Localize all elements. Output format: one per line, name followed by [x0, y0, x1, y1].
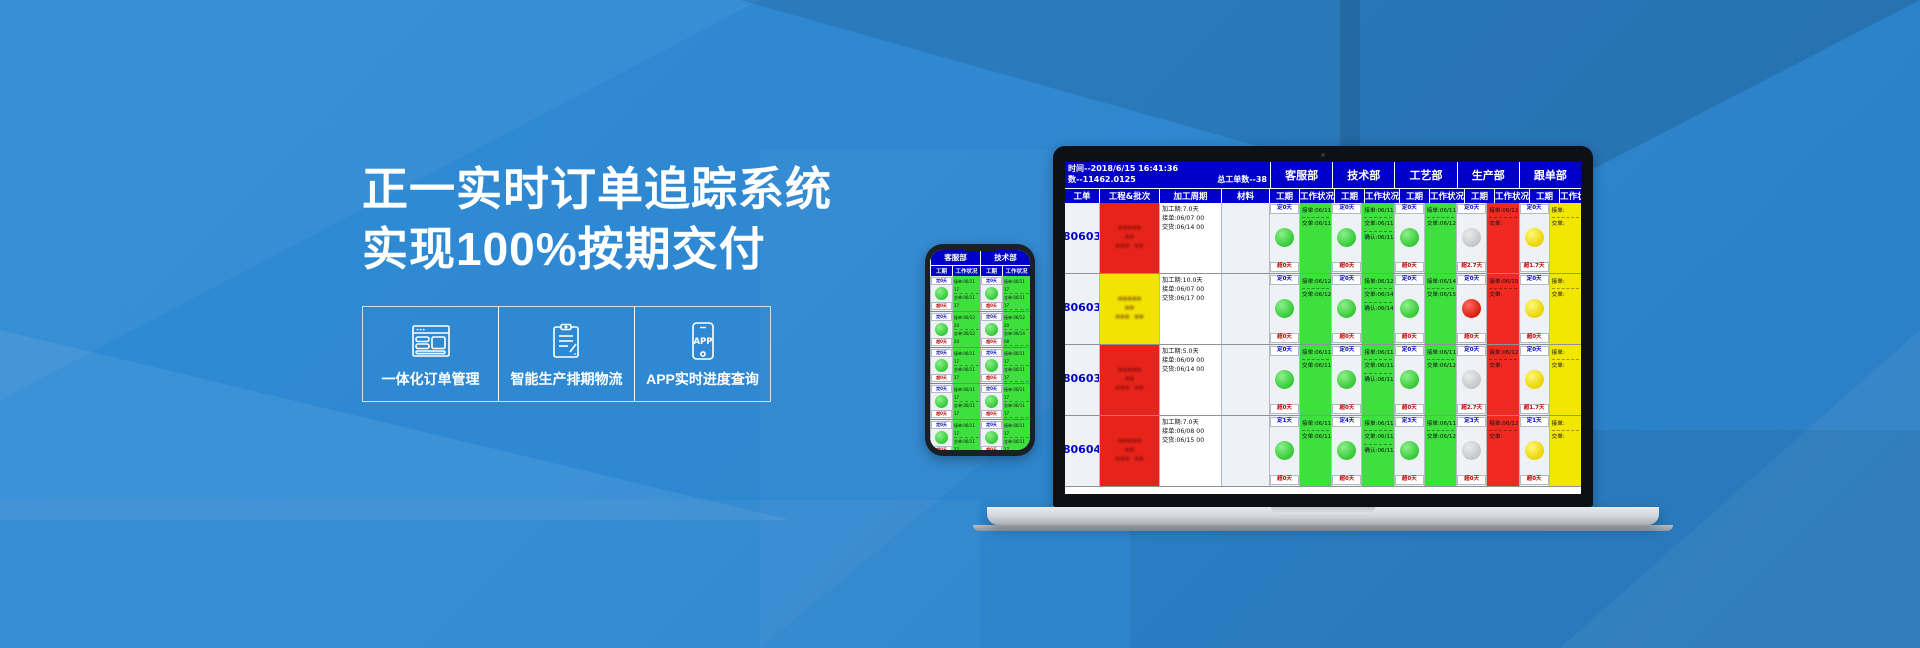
over-days-tag: 超0天 [1270, 333, 1299, 343]
status-indicator-green-icon [1337, 228, 1356, 247]
over-days-tag: 超0天 [931, 374, 952, 382]
over-days-tag: 超0天 [981, 446, 1002, 450]
erp-duration-cell-2[interactable]: 定0天超0天 [1394, 345, 1424, 415]
project-text-redacted: ■■■■■■■■■■ · ■■ [1106, 366, 1153, 393]
phone-work-status-cell[interactable]: 接单:06/11 17交单:06/11 17 [952, 348, 980, 383]
status-indicator-green-icon [1275, 299, 1294, 318]
set-days-tag: 定0天 [1520, 275, 1549, 285]
status-indicator-green-icon [985, 431, 998, 444]
erp-department-4: 跟单部 [1519, 162, 1581, 188]
status-indicator-gray-icon [1462, 370, 1481, 389]
phone-work-status-cell[interactable]: 接单:06/11 17交单:06/11 17确认:06/11 17 [1002, 276, 1030, 311]
over-days-tag: 超0天 [1395, 404, 1424, 414]
phone-work-status-cell[interactable]: 接单:06/11 17交单:06/11 17 [952, 276, 980, 311]
phone-work-status-cell[interactable]: 接单:06/11 17交单:06/11 17确认:06/11 17 [1002, 384, 1030, 419]
feature-card-production-schedule[interactable]: 智能生产排期物流 [498, 306, 635, 402]
erp-duration-cell-2[interactable]: 定0天超0天 [1394, 203, 1424, 273]
erp-duration-cell-4[interactable]: 定0天超1.7天 [1519, 345, 1549, 415]
status-indicator-green-icon [935, 395, 948, 408]
phone-duration-cell[interactable]: 定0天超0天 [930, 276, 952, 311]
erp-cycle-cell[interactable]: 加工期:7.0天接单:06/08 00交货:06/15 00 [1159, 416, 1221, 486]
erp-work-status-cell-3[interactable]: 接单:06/12 09交单: [1486, 416, 1518, 486]
erp-work-status-cell-2[interactable]: 接单:06/11 17交单:06/12 09 [1424, 203, 1456, 273]
laptop-device: 时间--2018/6/15 16:41:36 数--11462.0125 总工单… [1053, 146, 1593, 531]
erp-work-status-cell-3[interactable]: 接单:06/12 09交单: [1486, 203, 1518, 273]
over-days-tag: 超2.7天 [1457, 404, 1486, 414]
erp-col-0-1: 工作状况 [1299, 189, 1334, 203]
phone-duration-cell[interactable]: 定0天超0天 [980, 276, 1002, 311]
set-days-tag: 定0天 [1395, 275, 1424, 285]
erp-work-order-cell[interactable]: 1806036 [1065, 203, 1099, 273]
erp-col-fixed-1: 工程&批次 [1099, 189, 1159, 203]
erp-duration-cell-1[interactable]: 定4天超0天 [1331, 416, 1361, 486]
phone-duration-cell[interactable]: 定0天超0天 [930, 420, 952, 450]
set-days-tag: 定0天 [1270, 346, 1299, 356]
erp-work-status-cell-0[interactable]: 接单:06/11 17交单:06/11 17 [1299, 416, 1331, 486]
erp-project-batch-cell[interactable]: ■■■■■■■■■■ · ■■ [1099, 274, 1159, 344]
erp-department-3: 生产部 [1457, 162, 1519, 188]
status-indicator-green-icon [935, 323, 948, 336]
smartphone-app-icon: APP [689, 319, 717, 363]
svg-text:APP: APP [693, 337, 712, 347]
erp-work-status-cell-4[interactable]: 接单:交单: [1549, 345, 1581, 415]
set-days-tag: 定0天 [1520, 204, 1549, 214]
phone-work-status-cell[interactable]: 接单:06/11 17交单:06/11 17确认:06/11 17 [1002, 348, 1030, 383]
phone-duration-cell[interactable]: 定0天超0天 [930, 384, 952, 419]
erp-count-label: 数--11462.0125 [1068, 175, 1136, 186]
over-days-tag: 超0天 [1395, 262, 1424, 272]
smartphone-device: 客服部技术部 工期工作状况工期工作状况 定0天超0天接单:06/11 17交单:… [925, 244, 1035, 456]
set-days-tag: 定0天 [1395, 346, 1424, 356]
erp-col-2-1: 工作状况 [1429, 189, 1464, 203]
phone-table-row[interactable]: 定0天超0天接单:06/11 17交单:06/11 17定0天超0天接单:06/… [930, 276, 1030, 312]
erp-col-2-0: 工期 [1399, 189, 1429, 203]
status-indicator-green-icon [1400, 441, 1419, 460]
status-indicator-red-icon [1462, 299, 1481, 318]
laptop-screen[interactable]: 时间--2018/6/15 16:41:36 数--11462.0125 总工单… [1065, 162, 1581, 494]
over-days-tag: 超0天 [1332, 475, 1361, 485]
over-days-tag: 超0天 [1457, 333, 1486, 343]
erp-project-batch-cell[interactable]: ■■■■■■■■■■ · ■■ [1099, 345, 1159, 415]
set-days-tag: 定0天 [981, 385, 1002, 393]
erp-column-header: 工单工程&批次加工周期材料工期工作状况工期工作状况工期工作状况工期工作状况工期工… [1065, 188, 1581, 203]
erp-table-row[interactable]: 1806040■■■■■■■■■■ · ■■加工期:7.0天接单:06/08 0… [1065, 416, 1581, 487]
erp-duration-cell-4[interactable]: 定0天超1.7天 [1519, 203, 1549, 273]
status-indicator-green-icon [1337, 299, 1356, 318]
over-days-tag: 超0天 [1270, 404, 1299, 414]
erp-duration-cell-1[interactable]: 定0天超0天 [1331, 345, 1361, 415]
over-days-tag: 超0天 [981, 302, 1002, 310]
erp-top-bar: 时间--2018/6/15 16:41:36 数--11462.0125 总工单… [1065, 162, 1581, 188]
status-indicator-gray-icon [1462, 441, 1481, 460]
erp-duration-cell-4[interactable]: 定1天超0天 [1519, 416, 1549, 486]
phone-work-status-cell[interactable]: 接单:06/12 20交单:06/14 08确认:06/14 08 [1002, 312, 1030, 347]
set-days-tag: 定0天 [981, 313, 1002, 321]
status-indicator-green-icon [1275, 441, 1294, 460]
erp-col-4-0: 工期 [1529, 189, 1559, 203]
over-days-tag: 超0天 [931, 410, 952, 418]
set-days-tag: 定0天 [931, 277, 952, 285]
erp-work-status-cell-2[interactable]: 接单:06/11 17交单:06/12 09 [1424, 416, 1456, 486]
erp-duration-cell-1[interactable]: 定0天超0天 [1331, 274, 1361, 344]
erp-department-0: 客服部 [1270, 162, 1332, 188]
erp-work-status-cell-2[interactable]: 接单:06/11 17交单:06/12 09 [1424, 345, 1456, 415]
erp-table-body[interactable]: 1806036■■■■■■■■■■ · ■■加工期:7.0天接单:06/07 0… [1065, 203, 1581, 487]
erp-work-order-cell[interactable]: 1806038 [1065, 274, 1099, 344]
over-days-tag: 超0天 [931, 338, 952, 346]
erp-meta-info: 时间--2018/6/15 16:41:36 数--11462.0125 总工单… [1065, 162, 1270, 188]
phone-work-status-cell[interactable]: 接单:06/11 17交单:06/11 17 [952, 420, 980, 450]
status-indicator-green-icon [1275, 228, 1294, 247]
headline-line-1: 正一实时订单追踪系统 [362, 160, 922, 220]
erp-work-order-cell[interactable]: 1806039 [1065, 345, 1099, 415]
erp-duration-cell-3[interactable]: 定0天超2.7天 [1456, 345, 1486, 415]
window-layout-icon [411, 319, 451, 363]
set-days-tag: 定4天 [1332, 417, 1361, 427]
erp-work-status-cell-4[interactable]: 接单:交单: [1549, 416, 1581, 486]
laptop-base [987, 507, 1659, 525]
set-days-tag: 定0天 [1332, 204, 1361, 214]
erp-duration-cell-3[interactable]: 定0天超0天 [1456, 274, 1486, 344]
over-days-tag: 超0天 [1395, 475, 1424, 485]
set-days-tag: 定0天 [1270, 204, 1299, 214]
phone-work-status-cell[interactable]: 接单:06/11 17交单:06/11 17 [952, 384, 980, 419]
erp-duration-cell-4[interactable]: 定0天超0天 [1519, 274, 1549, 344]
status-indicator-yellow-icon [1525, 441, 1544, 460]
phone-col-0-1: 工作状况 [952, 266, 980, 276]
phone-table-row[interactable]: 定0天超0天接单:06/11 17交单:06/11 17定0天超0天接单:06/… [930, 348, 1030, 384]
phone-table-body[interactable]: 定0天超0天接单:06/11 17交单:06/11 17定0天超0天接单:06/… [930, 276, 1030, 450]
status-indicator-green-icon [1337, 441, 1356, 460]
erp-duration-cell-2[interactable]: 定0天超0天 [1394, 274, 1424, 344]
headline-line-2: 实现100%按期交付 [362, 220, 922, 280]
set-days-tag: 定0天 [1332, 346, 1361, 356]
erp-work-status-cell-2[interactable]: 接单:06/14 08交单:06/15 16 [1424, 274, 1456, 344]
set-days-tag: 定0天 [1332, 275, 1361, 285]
over-days-tag: 超0天 [1395, 333, 1424, 343]
phone-column-header: 工期工作状况工期工作状况 [930, 265, 1030, 276]
over-days-tag: 超0天 [931, 446, 952, 450]
over-days-tag: 超0天 [1270, 262, 1299, 272]
erp-project-batch-cell[interactable]: ■■■■■■■■■■ · ■■ [1099, 416, 1159, 486]
set-days-tag: 定0天 [931, 385, 952, 393]
project-text-redacted: ■■■■■■■■■■ · ■■ [1106, 437, 1153, 464]
erp-col-fixed-2: 加工周期 [1159, 189, 1221, 203]
status-indicator-green-icon [935, 287, 948, 300]
feature-card-app-progress[interactable]: APP APP实时进度查询 [634, 306, 771, 402]
phone-table-row[interactable]: 定0天超0天接单:06/12 20交单:06/12 20定0天超0天接单:06/… [930, 312, 1030, 348]
erp-duration-cell-0[interactable]: 定1天超0天 [1269, 416, 1299, 486]
over-days-tag: 超1.7天 [1520, 262, 1549, 272]
erp-material-cell[interactable] [1221, 274, 1269, 344]
erp-col-fixed-0: 工单 [1065, 189, 1099, 203]
project-text-redacted: ■■■■■■■■■■ · ■■ [1106, 224, 1153, 251]
erp-department-1: 技术部 [1332, 162, 1394, 188]
status-indicator-green-icon [1400, 299, 1419, 318]
erp-time-label: 时间--2018/6/15 16:41:36 [1068, 164, 1267, 175]
phone-table-row[interactable]: 定0天超0天接单:06/11 17交单:06/11 17定0天超0天接单:06/… [930, 384, 1030, 420]
feature-label: 智能生产排期物流 [511, 369, 623, 389]
erp-duration-cell-0[interactable]: 定0天超0天 [1269, 345, 1299, 415]
erp-project-batch-cell[interactable]: ■■■■■■■■■■ · ■■ [1099, 203, 1159, 273]
erp-col-1-1: 工作状况 [1364, 189, 1399, 203]
over-days-tag: 超0天 [1270, 475, 1299, 485]
phone-col-1-0: 工期 [980, 266, 1002, 276]
erp-duration-cell-3[interactable]: 定0天超2.7天 [1456, 203, 1486, 273]
erp-work-status-cell-0[interactable]: 接单:06/11 17交单:06/11 17 [1299, 345, 1331, 415]
phone-screen[interactable]: 客服部技术部 工期工作状况工期工作状况 定0天超0天接单:06/11 17交单:… [930, 250, 1030, 450]
status-indicator-gray-icon [1462, 228, 1481, 247]
over-days-tag: 超1.7天 [1520, 404, 1549, 414]
erp-total-label: 总工单数--38 [1217, 175, 1267, 186]
phone-department-0: 客服部 [930, 250, 980, 265]
clipboard-edit-icon [550, 319, 584, 363]
status-indicator-green-icon [985, 287, 998, 300]
erp-duration-cell-2[interactable]: 定3天超0天 [1394, 416, 1424, 486]
set-days-tag: 定0天 [981, 349, 1002, 357]
erp-duration-cell-3[interactable]: 定3天超0天 [1456, 416, 1486, 486]
phone-duration-cell[interactable]: 定0天超0天 [980, 384, 1002, 419]
erp-cycle-cell[interactable]: 加工期:5.0天接单:06/09 00交货:06/14 00 [1159, 345, 1221, 415]
phone-notch [960, 244, 1000, 251]
set-days-tag: 定0天 [1457, 204, 1486, 214]
status-indicator-yellow-icon [1525, 370, 1544, 389]
phone-col-0-0: 工期 [930, 266, 952, 276]
erp-work-status-cell-3[interactable]: 接单:06/15 16交单: [1486, 274, 1518, 344]
feature-label: 一体化订单管理 [382, 369, 480, 389]
erp-duration-cell-1[interactable]: 定0天超0天 [1331, 203, 1361, 273]
status-indicator-green-icon [935, 431, 948, 444]
set-days-tag: 定0天 [981, 277, 1002, 285]
laptop-base-notch [1271, 507, 1375, 514]
set-days-tag: 定0天 [931, 421, 952, 429]
phone-table-row[interactable]: 定0天超0天接单:06/11 17交单:06/11 17定0天超0天接单:06/… [930, 420, 1030, 450]
set-days-tag: 定1天 [1520, 417, 1549, 427]
laptop-base-foot [973, 525, 1673, 531]
set-days-tag: 定3天 [1457, 417, 1486, 427]
set-days-tag: 定0天 [931, 349, 952, 357]
status-indicator-green-icon [985, 395, 998, 408]
phone-work-status-cell[interactable]: 接单:06/12 20交单:06/12 20 [952, 312, 980, 347]
erp-material-cell[interactable] [1221, 416, 1269, 486]
over-days-tag: 超0天 [1457, 475, 1486, 485]
status-indicator-yellow-icon [1525, 228, 1544, 247]
over-days-tag: 超0天 [981, 338, 1002, 346]
over-days-tag: 超0天 [1332, 262, 1361, 272]
erp-department-2: 工艺部 [1394, 162, 1456, 188]
set-days-tag: 定0天 [1270, 275, 1299, 285]
status-indicator-green-icon [935, 359, 948, 372]
set-days-tag: 定0天 [1395, 204, 1424, 214]
erp-col-0-0: 工期 [1269, 189, 1299, 203]
erp-cycle-cell[interactable]: 加工期:7.0天接单:06/07 00交货:06/14 00 [1159, 203, 1221, 273]
status-indicator-green-icon [1275, 370, 1294, 389]
phone-duration-cell[interactable]: 定0天超0天 [980, 312, 1002, 347]
status-indicator-green-icon [985, 359, 998, 372]
over-days-tag: 超2.7天 [1457, 262, 1486, 272]
set-days-tag: 定0天 [981, 421, 1002, 429]
erp-material-cell[interactable] [1221, 345, 1269, 415]
webcam-icon [1321, 153, 1325, 157]
erp-work-status-cell-0[interactable]: 接单:06/11 17交单:06/11 17 [1299, 203, 1331, 273]
erp-col-3-1: 工作状况 [1494, 189, 1529, 203]
erp-work-status-cell-1[interactable]: 接单:06/11 17交单:06/11 17确认:06/11 17 [1361, 416, 1393, 486]
feature-list: 一体化订单管理 智能生产排期物流 [362, 306, 922, 402]
set-days-tag: 定1天 [1270, 417, 1299, 427]
erp-table-row[interactable]: 1806038■■■■■■■■■■ · ■■加工期:10.0天接单:06/07 … [1065, 274, 1581, 345]
erp-col-3-0: 工期 [1464, 189, 1494, 203]
erp-work-status-cell-3[interactable]: 接单:06/12 09交单: [1486, 345, 1518, 415]
status-indicator-green-icon [1400, 370, 1419, 389]
set-days-tag: 定0天 [1457, 346, 1486, 356]
status-indicator-green-icon [985, 323, 998, 336]
erp-work-status-cell-1[interactable]: 接单:06/11 17交单:06/11 17确认:06/11 17 [1361, 345, 1393, 415]
erp-work-status-cell-4[interactable]: 接单:交单: [1549, 274, 1581, 344]
erp-work-status-cell-0[interactable]: 接单:06/12 20交单:06/12 20 [1299, 274, 1331, 344]
set-days-tag: 定0天 [1457, 275, 1486, 285]
erp-col-1-0: 工期 [1334, 189, 1364, 203]
over-days-tag: 超0天 [981, 410, 1002, 418]
erp-department-header: 客服部技术部工艺部生产部跟单部 [1270, 162, 1581, 188]
erp-duration-cell-0[interactable]: 定0天超0天 [1269, 203, 1299, 273]
erp-cycle-cell[interactable]: 加工期:10.0天接单:06/07 00交货:06/17 00 [1159, 274, 1221, 344]
erp-work-order-cell[interactable]: 1806040 [1065, 416, 1099, 486]
over-days-tag: 超0天 [931, 302, 952, 310]
erp-work-status-cell-1[interactable]: 接单:06/12 20交单:06/14 08确认:06/14 08 [1361, 274, 1393, 344]
over-days-tag: 超0天 [1520, 333, 1549, 343]
status-indicator-yellow-icon [1525, 299, 1544, 318]
laptop-lid: 时间--2018/6/15 16:41:36 数--11462.0125 总工单… [1053, 146, 1593, 507]
phone-duration-cell[interactable]: 定0天超0天 [980, 348, 1002, 383]
set-days-tag: 定0天 [931, 313, 952, 321]
erp-col-fixed-3: 材料 [1221, 189, 1269, 203]
set-days-tag: 定0天 [1520, 346, 1549, 356]
phone-duration-cell[interactable]: 定0天超0天 [930, 312, 952, 347]
phone-department-1: 技术部 [980, 250, 1030, 265]
phone-work-status-cell[interactable]: 接单:06/11 17交单:06/11 17确认:06/11 17 [1002, 420, 1030, 450]
over-days-tag: 超0天 [1332, 333, 1361, 343]
erp-material-cell[interactable] [1221, 203, 1269, 273]
feature-label: APP实时进度查询 [646, 369, 759, 389]
erp-work-status-cell-4[interactable]: 接单:交单: [1549, 203, 1581, 273]
over-days-tag: 超0天 [1332, 404, 1361, 414]
erp-table-row[interactable]: 1806039■■■■■■■■■■ · ■■加工期:5.0天接单:06/09 0… [1065, 345, 1581, 416]
over-days-tag: 超0天 [981, 374, 1002, 382]
feature-card-order-management[interactable]: 一体化订单管理 [362, 306, 499, 402]
hero-copy: 正一实时订单追踪系统 实现100%按期交付 一体化订单管理 [362, 160, 922, 402]
erp-duration-cell-0[interactable]: 定0天超0天 [1269, 274, 1299, 344]
status-indicator-green-icon [1400, 228, 1419, 247]
over-days-tag: 超0天 [1520, 475, 1549, 485]
erp-table-row[interactable]: 1806036■■■■■■■■■■ · ■■加工期:7.0天接单:06/07 0… [1065, 203, 1581, 274]
phone-department-header: 客服部技术部 [930, 250, 1030, 265]
phone-duration-cell[interactable]: 定0天超0天 [930, 348, 952, 383]
status-indicator-green-icon [1337, 370, 1356, 389]
set-days-tag: 定3天 [1395, 417, 1424, 427]
erp-work-status-cell-1[interactable]: 接单:06/11 17交单:06/11 17确认:06/11 17 [1361, 203, 1393, 273]
phone-duration-cell[interactable]: 定0天超0天 [980, 420, 1002, 450]
phone-col-1-1: 工作状况 [1002, 266, 1030, 276]
erp-col-4-1: 工作状况 [1559, 189, 1581, 203]
project-text-redacted: ■■■■■■■■■■ · ■■ [1106, 295, 1153, 322]
